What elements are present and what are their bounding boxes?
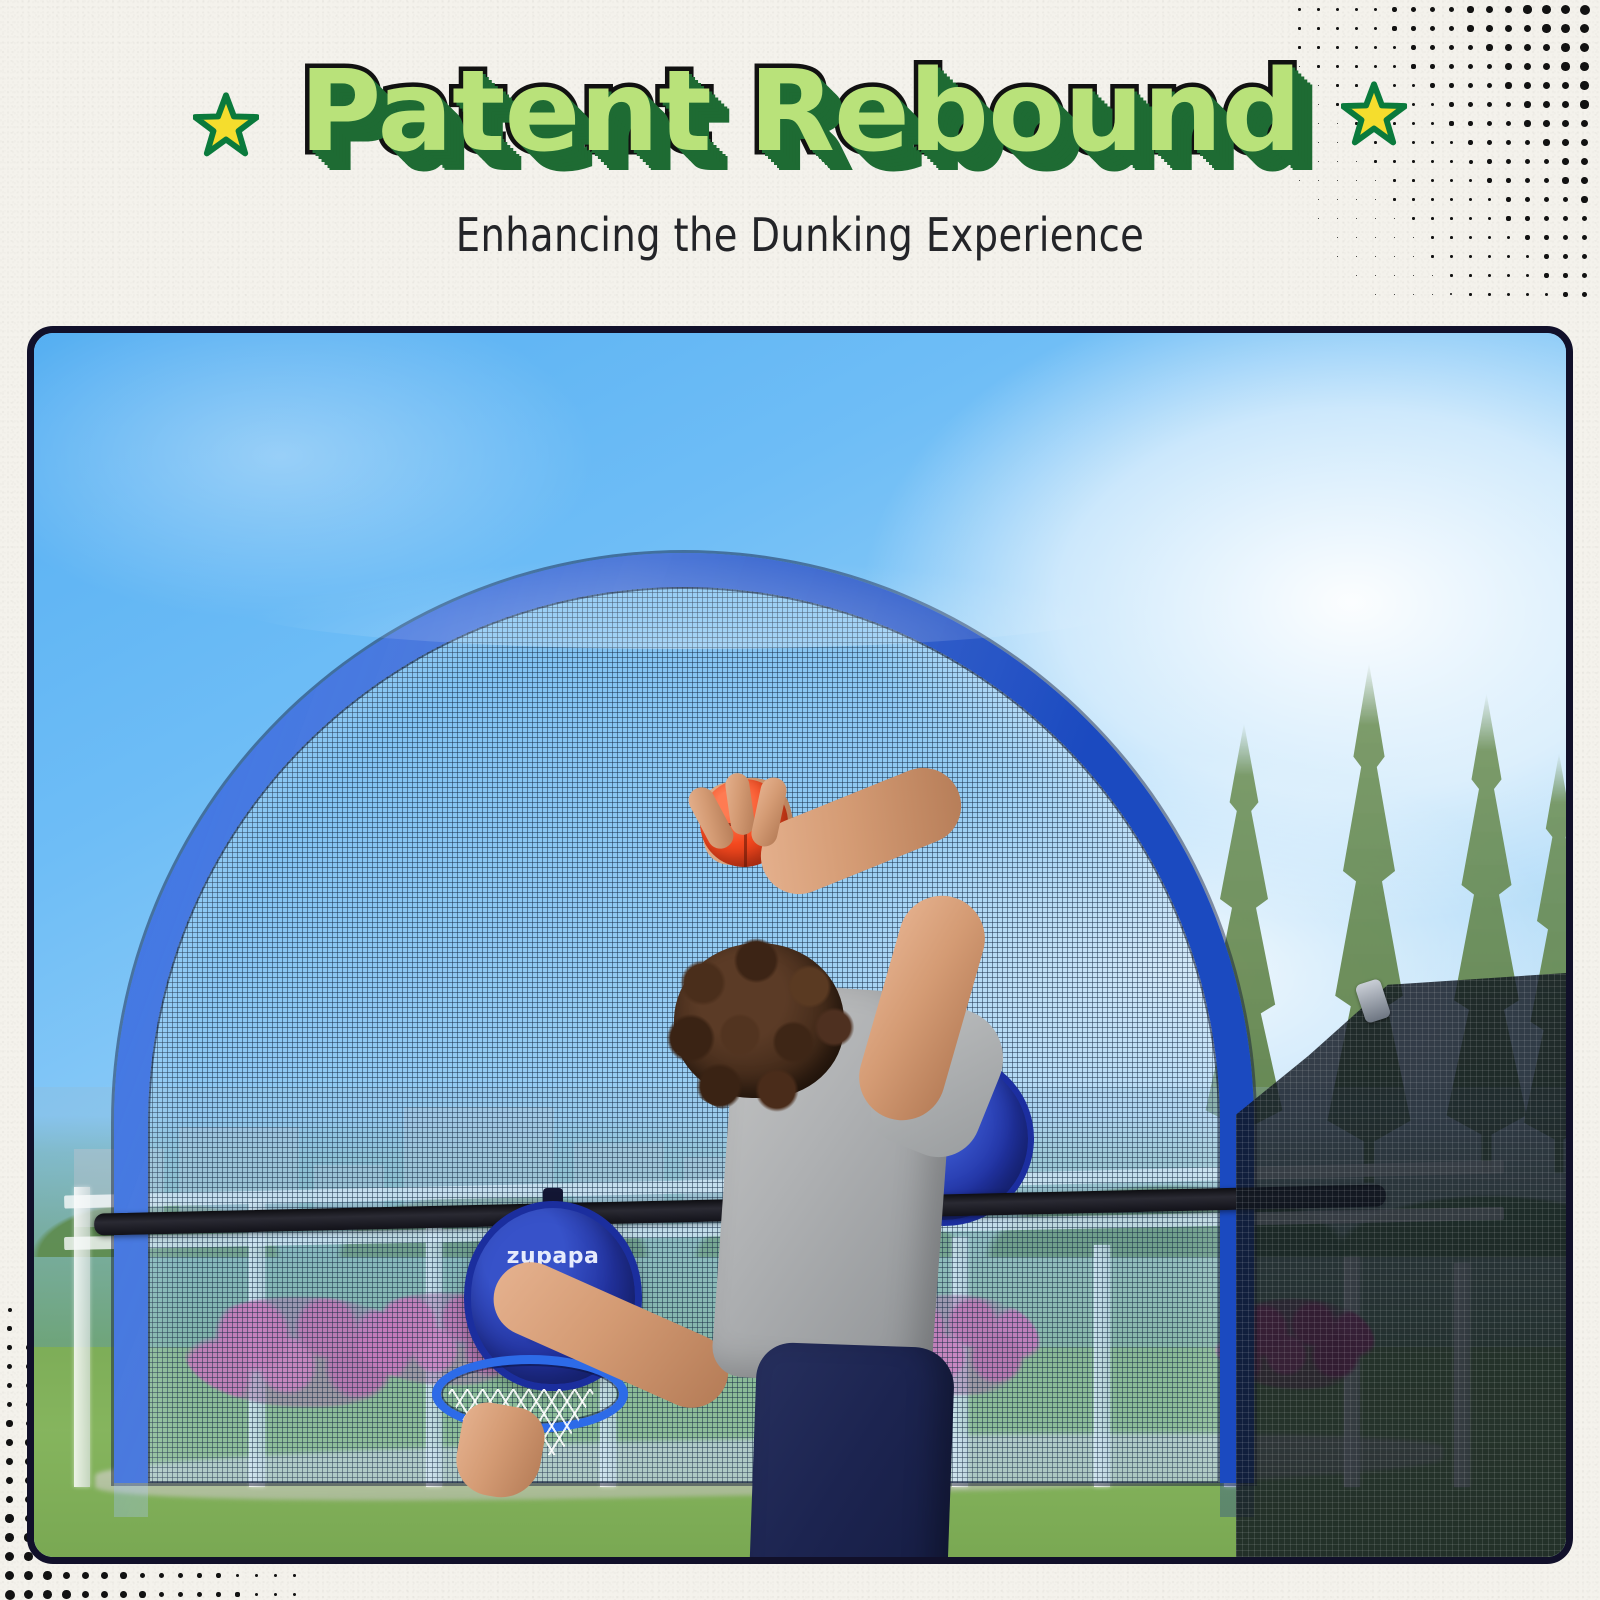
halftone-dot — [120, 1591, 127, 1598]
title-row: Patent Rebound — [0, 56, 1600, 168]
halftone-dot — [159, 1592, 165, 1598]
halftone-dot — [197, 1592, 202, 1597]
halftone-dot — [178, 1592, 183, 1597]
page-title: Patent Rebound — [299, 56, 1300, 168]
halftone-dot — [6, 1477, 13, 1484]
halftone-dot — [63, 1572, 71, 1580]
halftone-dot — [139, 1591, 145, 1597]
halftone-dot — [101, 1572, 108, 1579]
halftone-dot — [5, 1533, 14, 1542]
halftone-dot — [6, 1439, 13, 1446]
halftone-dot — [293, 1574, 296, 1577]
star-icon — [1341, 81, 1407, 147]
halftone-dot — [6, 1458, 13, 1465]
person-shorts — [747, 1342, 956, 1557]
halftone-dot — [62, 1590, 70, 1598]
halftone-dot — [43, 1590, 52, 1599]
halftone-dot — [7, 1345, 12, 1350]
halftone-dot — [197, 1573, 202, 1578]
star-icon — [193, 92, 259, 158]
pergola-post — [74, 1187, 90, 1487]
halftone-dot — [7, 1383, 12, 1388]
halftone-dot — [82, 1572, 89, 1579]
halftone-dot — [43, 1571, 51, 1579]
halftone-dot — [82, 1591, 90, 1599]
halftone-dot — [5, 1590, 15, 1600]
halftone-dot — [274, 1593, 277, 1596]
hero-photo-frame: zupapa zupapa 2 — [27, 326, 1573, 1564]
halftone-dot — [24, 1590, 33, 1599]
page-subtitle: Enhancing the Dunking Experience — [56, 208, 1544, 262]
halftone-dot — [140, 1573, 146, 1579]
halftone-dot — [8, 1308, 12, 1312]
halftone-dot — [7, 1402, 13, 1408]
halftone-dot — [236, 1574, 240, 1578]
halftone-dot — [216, 1573, 220, 1577]
halftone-dot — [255, 1574, 258, 1577]
halftone-dot — [159, 1573, 164, 1578]
person-curly-hair — [658, 931, 863, 1116]
poster-canvas: Patent Rebound Enhancing the Dunking Exp… — [0, 0, 1600, 1600]
halftone-dot — [235, 1592, 239, 1596]
halftone-dot — [7, 1326, 11, 1330]
halftone-dot — [6, 1420, 12, 1426]
halftone-dot — [178, 1573, 183, 1578]
halftone-dot — [7, 1364, 12, 1369]
halftone-dot — [5, 1571, 15, 1581]
halftone-dot — [6, 1496, 14, 1504]
halftone-dot — [101, 1591, 108, 1598]
halftone-dot — [255, 1593, 259, 1597]
halftone-dot — [120, 1572, 126, 1578]
halftone-dot — [5, 1552, 14, 1561]
halftone-dot — [216, 1592, 221, 1597]
hero-photo: zupapa zupapa 2 — [34, 333, 1566, 1557]
halftone-dot — [24, 1571, 33, 1580]
halftone-dot — [293, 1593, 296, 1596]
poster-header: Patent Rebound Enhancing the Dunking Exp… — [0, 0, 1600, 312]
halftone-dot — [5, 1514, 13, 1522]
halftone-dot — [274, 1574, 277, 1577]
